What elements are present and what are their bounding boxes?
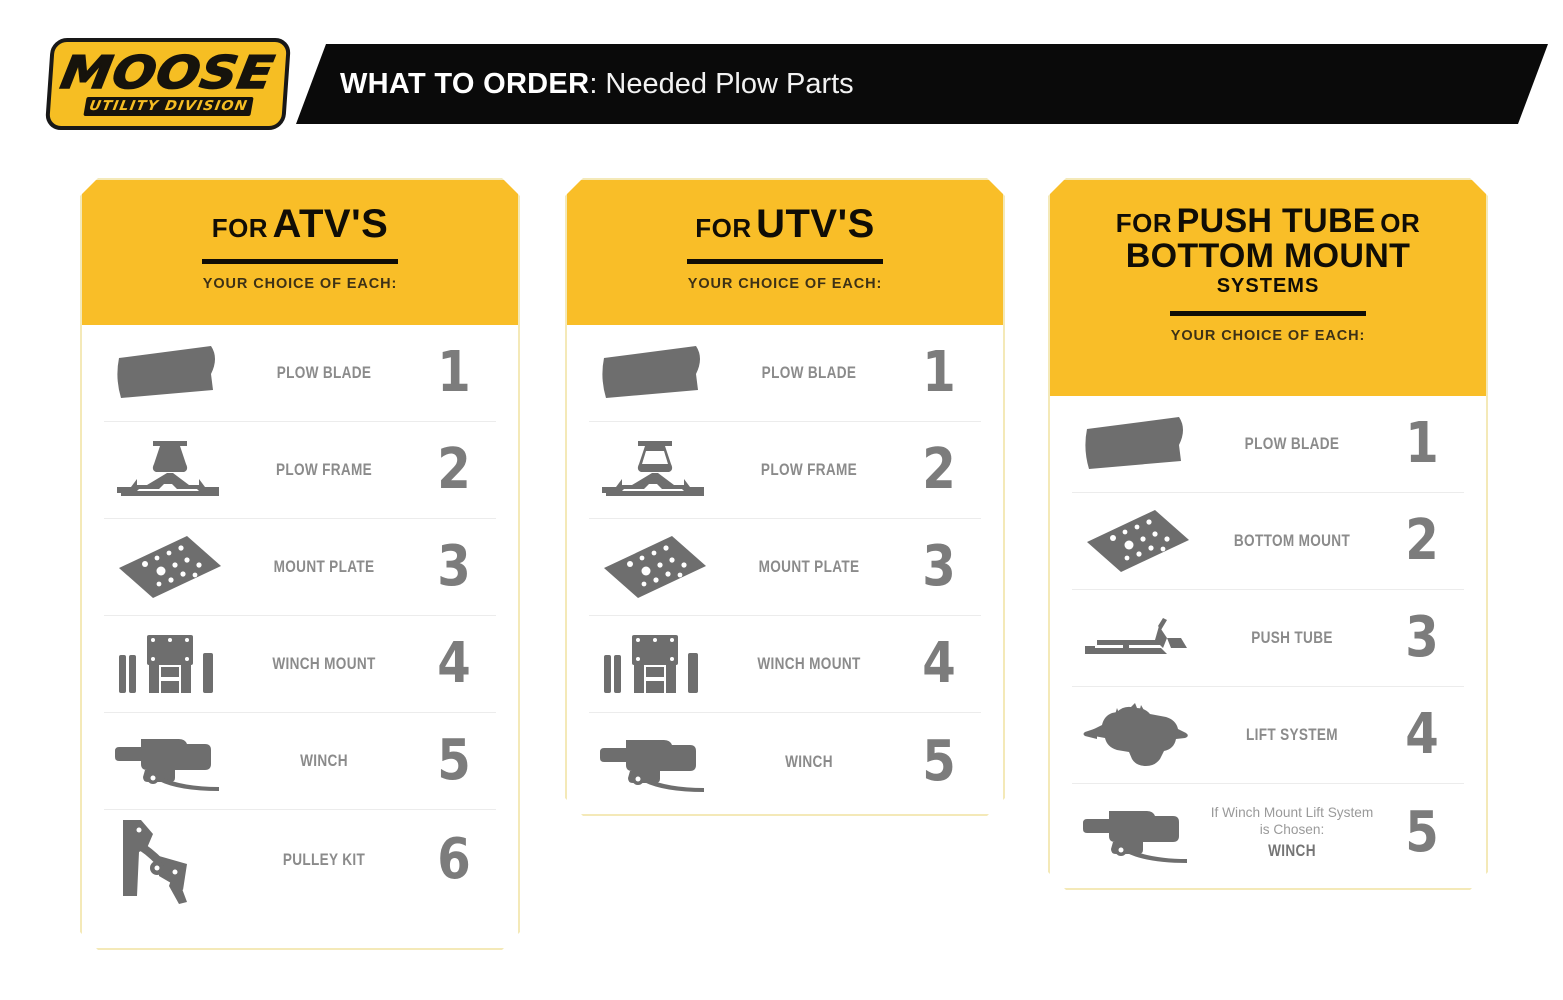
card-push-tube-title-line2: BOTTOM MOUNT bbox=[1078, 239, 1458, 274]
card-utvs: FOR UTV'S YOUR CHOICE OF EACH: PLOW BLAD… bbox=[565, 178, 1005, 816]
card-atvs-header: FOR ATV'S YOUR CHOICE OF EACH: bbox=[82, 180, 518, 325]
card-atvs: FOR ATV'S YOUR CHOICE OF EACH: PLOW BLAD… bbox=[80, 178, 520, 950]
list-item-label: PLOW BLADE bbox=[1222, 434, 1363, 454]
list-item-number: 4 bbox=[903, 636, 975, 692]
list-item-label: If Winch Mount Lift System is Chosen: WI… bbox=[1222, 804, 1363, 860]
card-atvs-title: FOR ATV'S bbox=[110, 204, 490, 245]
list-item[interactable]: WINCH MOUNT 4 bbox=[589, 616, 981, 713]
list-item[interactable]: PLOW BLADE 1 bbox=[589, 325, 981, 422]
card-push-tube-bottom-mount: FOR PUSH TUBE OR BOTTOM MOUNT SYSTEMS YO… bbox=[1048, 178, 1488, 890]
list-item-label-text: WINCH bbox=[1222, 841, 1363, 861]
winch-icon bbox=[104, 731, 236, 791]
card-atvs-title-main: ATV'S bbox=[273, 202, 389, 246]
atv-icon bbox=[1072, 702, 1204, 768]
list-item-label: WINCH MOUNT bbox=[739, 654, 880, 674]
list-item-number: 4 bbox=[418, 636, 490, 692]
list-item[interactable]: PUSH TUBE 3 bbox=[1072, 590, 1464, 687]
page-header: MOOSE UTILITY DIVISION WHAT TO ORDER: Ne… bbox=[0, 0, 1563, 150]
list-item[interactable]: WINCH 5 bbox=[104, 713, 496, 810]
list-item[interactable]: PLOW FRAME 2 bbox=[104, 422, 496, 519]
list-item-label: BOTTOM MOUNT bbox=[1222, 531, 1363, 551]
title-banner: WHAT TO ORDER: Needed Plow Parts bbox=[296, 44, 1548, 124]
list-item[interactable]: WINCH MOUNT 4 bbox=[104, 616, 496, 713]
card-atvs-subtitle: YOUR CHOICE OF EACH: bbox=[110, 276, 490, 292]
list-item-label: PLOW BLADE bbox=[739, 363, 880, 383]
page-title-rest: : Needed Plow Parts bbox=[589, 68, 853, 100]
list-item[interactable]: PULLEY KIT 6 bbox=[104, 810, 496, 910]
list-item[interactable]: PLOW FRAME 2 bbox=[589, 422, 981, 519]
card-utvs-subtitle: YOUR CHOICE OF EACH: bbox=[595, 276, 975, 292]
list-item-label: WINCH bbox=[254, 751, 395, 771]
list-item[interactable]: MOUNT PLATE 3 bbox=[104, 519, 496, 616]
list-item-label: MOUNT PLATE bbox=[739, 557, 880, 577]
logo-tagline: UTILITY DIVISION bbox=[87, 98, 248, 114]
moose-logo: MOOSE UTILITY DIVISION bbox=[48, 38, 288, 130]
list-item-number: 6 bbox=[418, 832, 490, 888]
pulley-kit-icon bbox=[104, 816, 236, 904]
list-item-note: If Winch Mount Lift System is Chosen: bbox=[1206, 804, 1378, 837]
card-atvs-body: PLOW BLADE 1 PLOW FRAME 2 bbox=[82, 325, 518, 910]
logo-wordmark: MOOSE bbox=[58, 52, 278, 95]
list-item-number: 3 bbox=[418, 539, 490, 595]
list-item[interactable]: LIFT SYSTEM 4 bbox=[1072, 687, 1464, 784]
card-push-tube-title-suffix: OR bbox=[1380, 208, 1420, 238]
mount-plate-icon bbox=[104, 534, 236, 600]
plow-blade-icon bbox=[1072, 415, 1204, 473]
card-utvs-body: PLOW BLADE 1 PLOW FRAME 2 bbox=[567, 325, 1003, 810]
winch-mount-icon bbox=[104, 631, 236, 697]
list-item-number: 1 bbox=[418, 345, 490, 401]
logo-tagline-bar: UTILITY DIVISION bbox=[83, 97, 253, 116]
card-push-tube-header: FOR PUSH TUBE OR BOTTOM MOUNT SYSTEMS YO… bbox=[1050, 180, 1486, 396]
list-item-number: 3 bbox=[1386, 610, 1458, 666]
list-item[interactable]: PLOW BLADE 1 bbox=[1072, 396, 1464, 493]
logo-content: MOOSE UTILITY DIVISION bbox=[48, 38, 288, 130]
page-title-strong: WHAT TO ORDER bbox=[340, 68, 589, 100]
list-item[interactable]: BOTTOM MOUNT 2 bbox=[1072, 493, 1464, 590]
card-push-tube-title-main: PUSH TUBE bbox=[1177, 202, 1376, 240]
list-item-label: WINCH bbox=[739, 752, 880, 772]
card-utvs-title-main: UTV'S bbox=[756, 202, 875, 246]
card-push-tube-divider bbox=[1170, 311, 1366, 316]
list-item[interactable]: MOUNT PLATE 3 bbox=[589, 519, 981, 616]
card-push-tube-title-line3: SYSTEMS bbox=[1078, 276, 1458, 296]
list-item-number: 2 bbox=[418, 442, 490, 498]
list-item-label: PLOW FRAME bbox=[254, 460, 395, 480]
card-atvs-title-prefix: FOR bbox=[212, 213, 268, 243]
list-item-number: 2 bbox=[1386, 513, 1458, 569]
card-push-tube-title-prefix: FOR bbox=[1116, 208, 1172, 238]
card-push-tube-subtitle: YOUR CHOICE OF EACH: bbox=[1078, 328, 1458, 344]
plow-frame-icon bbox=[589, 439, 721, 501]
card-utvs-title-prefix: FOR bbox=[695, 213, 751, 243]
mount-plate-icon bbox=[589, 534, 721, 600]
winch-icon bbox=[589, 732, 721, 792]
card-utvs-header: FOR UTV'S YOUR CHOICE OF EACH: bbox=[567, 180, 1003, 325]
plow-blade-icon bbox=[589, 344, 721, 402]
winch-mount-icon bbox=[589, 631, 721, 697]
page-title: WHAT TO ORDER: Needed Plow Parts bbox=[340, 68, 854, 101]
winch-icon bbox=[1072, 803, 1204, 863]
list-item-number: 5 bbox=[1386, 805, 1458, 861]
card-atvs-divider bbox=[202, 259, 398, 264]
card-push-tube-body: PLOW BLADE 1 bbox=[1050, 396, 1486, 881]
list-item[interactable]: PLOW BLADE 1 bbox=[104, 325, 496, 422]
list-item-number: 5 bbox=[418, 733, 490, 789]
plow-blade-icon bbox=[104, 344, 236, 402]
list-item-number: 5 bbox=[903, 734, 975, 790]
list-item-label: PLOW BLADE bbox=[254, 363, 395, 383]
list-item-number: 3 bbox=[903, 539, 975, 595]
list-item-label: PULLEY KIT bbox=[254, 850, 395, 870]
list-item-number: 1 bbox=[1386, 416, 1458, 472]
list-item-number: 2 bbox=[903, 442, 975, 498]
plow-frame-icon bbox=[104, 439, 236, 501]
list-item-number: 4 bbox=[1386, 707, 1458, 763]
list-item-label: LIFT SYSTEM bbox=[1222, 725, 1363, 745]
card-utvs-title: FOR UTV'S bbox=[595, 204, 975, 245]
list-item-label: PLOW FRAME bbox=[739, 460, 880, 480]
list-item-label: PUSH TUBE bbox=[1222, 628, 1363, 648]
list-item[interactable]: If Winch Mount Lift System is Chosen: WI… bbox=[1072, 784, 1464, 881]
list-item-label: MOUNT PLATE bbox=[254, 557, 395, 577]
list-item-label: WINCH MOUNT bbox=[254, 654, 395, 674]
list-item-number: 1 bbox=[903, 345, 975, 401]
card-push-tube-title: FOR PUSH TUBE OR BOTTOM MOUNT SYSTEMS bbox=[1078, 204, 1458, 297]
bottom-mount-icon bbox=[1072, 508, 1204, 574]
card-utvs-divider bbox=[687, 259, 883, 264]
push-tube-icon bbox=[1072, 612, 1204, 664]
list-item[interactable]: WINCH 5 bbox=[589, 713, 981, 810]
